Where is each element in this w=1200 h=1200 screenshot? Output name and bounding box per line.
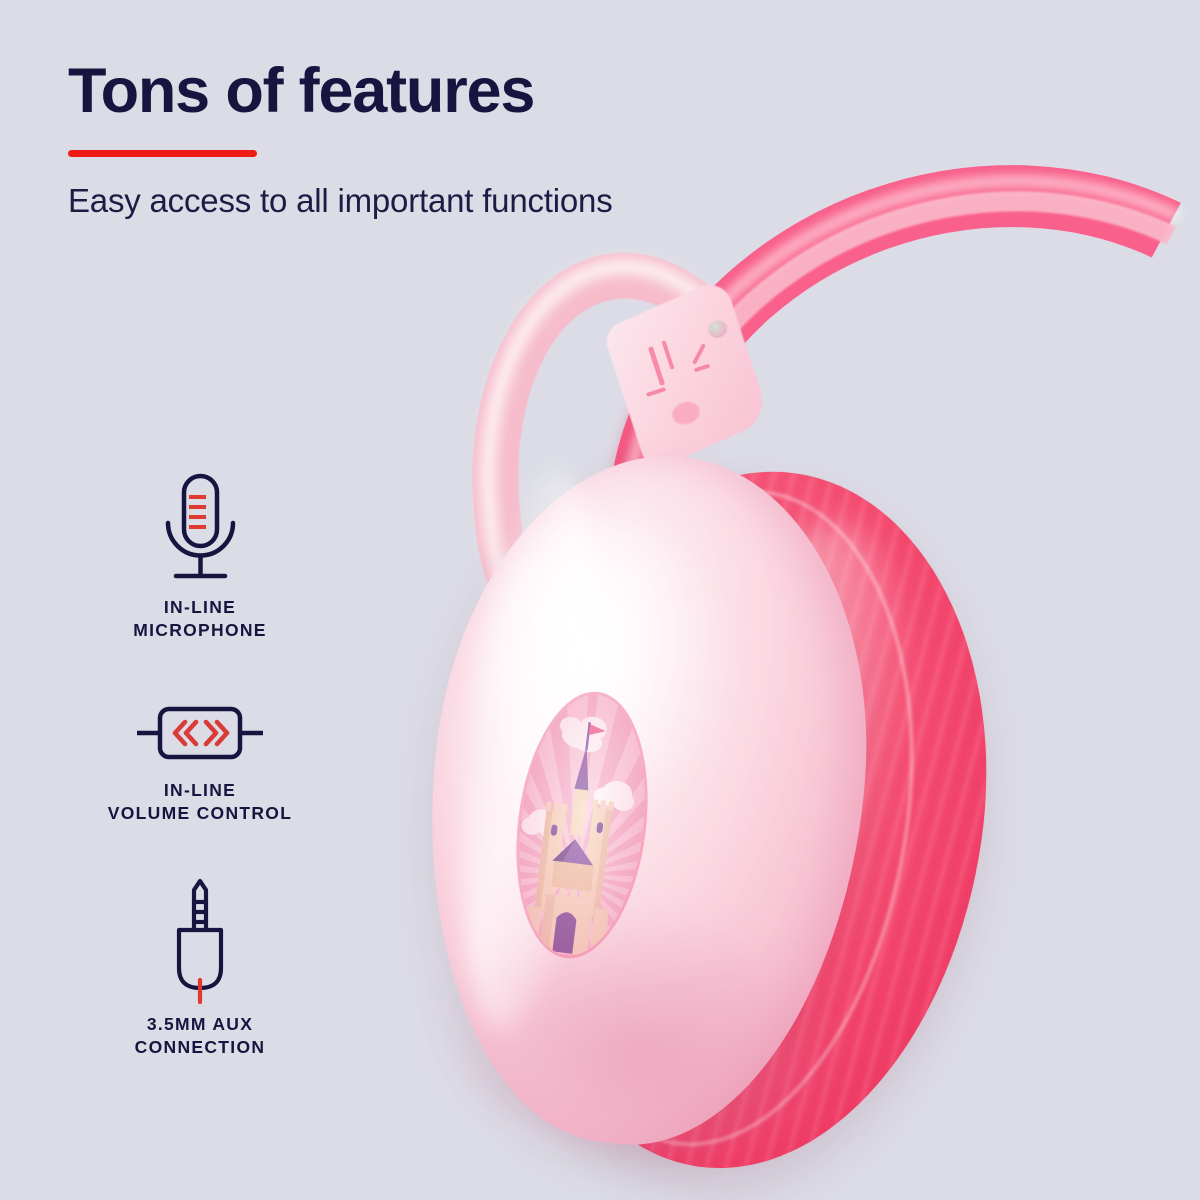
feature-label: IN-LINE VOLUME CONTROL	[40, 779, 360, 826]
mic-capsule	[184, 476, 217, 546]
volume-control-icon	[40, 695, 360, 771]
feature-label: 3.5MM AUX CONNECTION	[40, 1013, 360, 1060]
feature-item-aux-connection: 3.5MM AUX CONNECTION	[40, 877, 360, 1060]
feature-label: IN-LINE MICROPHONE	[40, 596, 360, 643]
aux-jack-icon	[40, 877, 360, 1005]
marketing-image: Tons of features Easy access to all impo…	[0, 0, 1200, 1200]
page-title: Tons of features	[68, 58, 534, 124]
jack-tip	[194, 881, 206, 902]
mic-level-bars	[189, 497, 206, 527]
chevron-double-right-icon	[206, 722, 227, 744]
page-subtitle: Easy access to all important functions	[68, 182, 613, 220]
feature-list: IN-LINE MICROPHONE	[40, 470, 360, 1060]
title-divider	[68, 150, 257, 157]
chevron-double-left-icon	[175, 722, 196, 744]
feature-item-microphone: IN-LINE MICROPHONE	[40, 470, 360, 643]
microphone-icon	[40, 470, 360, 588]
feature-item-volume-control: IN-LINE VOLUME CONTROL	[40, 695, 360, 826]
